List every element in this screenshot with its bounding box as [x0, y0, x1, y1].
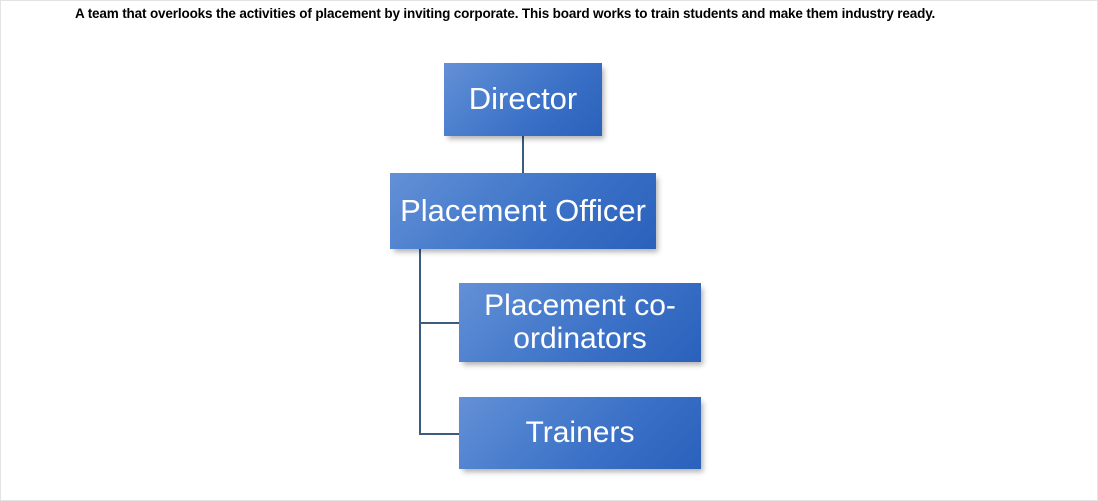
connector-director-to-officer [522, 136, 524, 174]
org-node-placement-coordinators-label: Placement co- ordinators [459, 290, 701, 355]
connector-trunk-to-coordinators [419, 322, 461, 324]
org-node-trainers[interactable]: Trainers [459, 397, 701, 469]
org-node-placement-officer[interactable]: Placement Officer [390, 173, 656, 249]
org-node-placement-officer-label: Placement Officer [390, 195, 656, 228]
org-node-director[interactable]: Director [444, 63, 602, 136]
org-node-trainers-label: Trainers [459, 417, 701, 449]
connector-officer-trunk [419, 249, 421, 435]
diagram-canvas: A team that overlooks the activities of … [0, 0, 1098, 501]
connector-trunk-to-trainers [419, 433, 461, 435]
org-node-director-label: Director [444, 83, 602, 116]
chart-caption: A team that overlooks the activities of … [75, 5, 1035, 23]
org-node-placement-coordinators[interactable]: Placement co- ordinators [459, 283, 701, 362]
